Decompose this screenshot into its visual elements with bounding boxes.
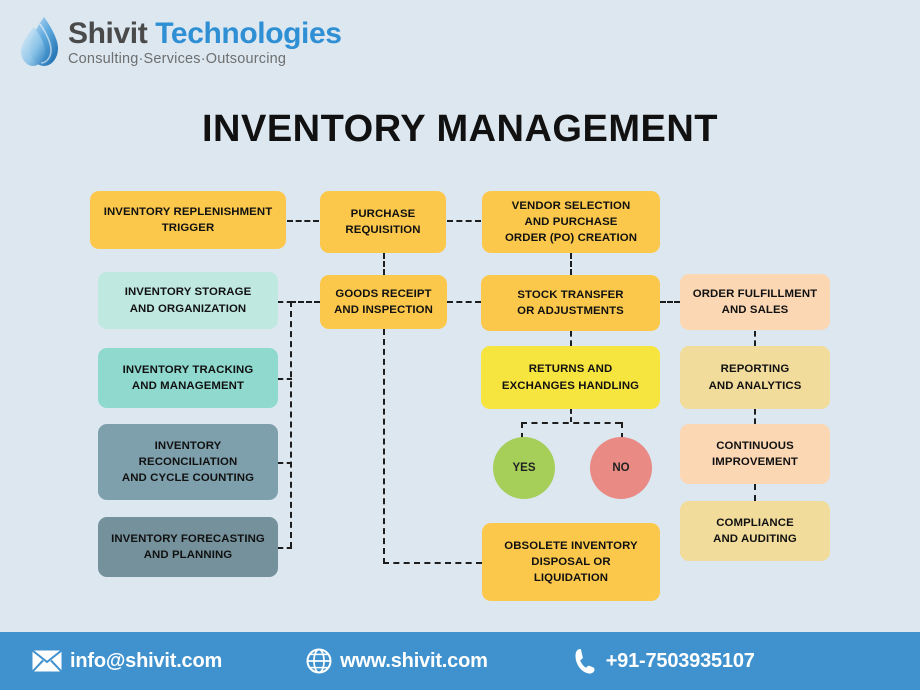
connector-order-fulfillment-to-reporting (754, 331, 756, 346)
node-line: LIQUIDATION (504, 570, 637, 586)
connector-reporting-to-continuous (754, 409, 756, 424)
node-line: INVENTORY (122, 438, 254, 454)
node-line: INVENTORY TRACKING (123, 362, 254, 378)
connector-bus-to-inventory-storage (278, 301, 292, 303)
node-line: ORDER (PO) CREATION (505, 230, 637, 246)
node-line: AND ORGANIZATION (125, 301, 252, 317)
node-line: AND MANAGEMENT (123, 378, 254, 394)
node-stock-transfer-or-adjustments[interactable]: STOCK TRANSFER OR ADJUSTMENTS (481, 275, 660, 331)
brand-logo: Shivit Technologies Consulting·Services·… (18, 14, 342, 72)
node-line: OBSOLETE INVENTORY (504, 538, 637, 554)
node-reporting-and-analytics[interactable]: REPORTING AND ANALYTICS (680, 346, 830, 409)
node-line: COMPLIANCE (713, 515, 797, 531)
connector-bus-to-inventory-reconciliation (278, 462, 292, 464)
decision-yes-label: YES (512, 462, 535, 474)
connector-stock-transfer-to-returns (570, 331, 572, 346)
brand-name: Shivit Technologies (68, 18, 342, 50)
page-title: INVENTORY MANAGEMENT (0, 108, 920, 151)
node-line: TRIGGER (104, 220, 273, 236)
node-inventory-forecasting-and-planning[interactable]: INVENTORY FORECASTING AND PLANNING (98, 517, 278, 577)
brand-name-part2: Technologies (155, 17, 341, 50)
node-vendor-selection-and-purchase-order-creation[interactable]: VENDOR SELECTION AND PURCHASE ORDER (PO)… (482, 191, 660, 253)
brand-tagline: Consulting·Services·Outsourcing (68, 51, 342, 67)
node-line: GOODS RECEIPT (334, 286, 433, 302)
globe-icon (306, 648, 332, 674)
decision-no[interactable]: NO (590, 437, 652, 499)
node-goods-receipt-and-inspection[interactable]: GOODS RECEIPT AND INSPECTION (320, 275, 447, 329)
decision-no-label: NO (612, 462, 629, 474)
phone-icon (574, 647, 596, 675)
contact-email[interactable]: info@shivit.com (32, 650, 222, 673)
node-line: INVENTORY STORAGE (125, 284, 252, 300)
node-line: DISPOSAL OR (504, 554, 637, 570)
connector-requisition-to-vendor (447, 220, 481, 222)
node-line: REQUISITION (345, 222, 420, 238)
envelope-icon (32, 650, 62, 672)
connector-left-bus-vertical (290, 301, 292, 548)
node-line: AND SALES (693, 302, 817, 318)
connector-stock-transfer-to-order-fulfillment (660, 301, 680, 303)
connector-trigger-to-requisition (287, 220, 319, 222)
node-line: AND PURCHASE (505, 214, 637, 230)
contact-phone[interactable]: +91-7503935107 (574, 647, 755, 675)
node-line: REPORTING (709, 361, 802, 377)
node-line: STOCK TRANSFER (517, 287, 624, 303)
connector-continuous-to-compliance (754, 484, 756, 501)
brand-logo-text: Shivit Technologies Consulting·Services·… (68, 14, 342, 67)
contact-website[interactable]: www.shivit.com (306, 648, 488, 674)
infographic-canvas: Shivit Technologies Consulting·Services·… (0, 0, 920, 690)
node-compliance-and-auditing[interactable]: COMPLIANCE AND AUDITING (680, 501, 830, 561)
connector-goods-receipt-to-stock-transfer (447, 301, 481, 303)
connector-down-to-obsolete-inventory (383, 562, 482, 564)
node-obsolete-inventory-disposal-or-liquidation[interactable]: OBSOLETE INVENTORY DISPOSAL OR LIQUIDATI… (482, 523, 660, 601)
connector-left-bus-to-goods-receipt (290, 301, 320, 303)
brand-name-part1: Shivit (68, 17, 147, 50)
node-line: AND INSPECTION (334, 302, 433, 318)
node-line: ORDER FULFILLMENT (693, 286, 817, 302)
node-continuous-improvement[interactable]: CONTINUOUS IMPROVEMENT (680, 424, 830, 484)
node-line: RECONCILIATION (122, 454, 254, 470)
node-line: AND PLANNING (111, 547, 265, 563)
contact-phone-label: +91-7503935107 (606, 650, 755, 673)
node-order-fulfillment-and-sales[interactable]: ORDER FULFILLMENT AND SALES (680, 274, 830, 330)
node-inventory-tracking-and-management[interactable]: INVENTORY TRACKING AND MANAGEMENT (98, 348, 278, 408)
node-line: RETURNS AND (502, 361, 639, 377)
connector-bus-to-inventory-tracking (278, 378, 292, 380)
connector-yesno-crossbar (521, 422, 621, 424)
contact-email-label: info@shivit.com (70, 650, 222, 673)
connector-bus-to-inventory-forecasting (278, 547, 292, 549)
node-inventory-storage-and-organization[interactable]: INVENTORY STORAGE AND ORGANIZATION (98, 272, 278, 329)
connector-goods-receipt-down (383, 329, 385, 564)
node-returns-and-exchanges-handling[interactable]: RETURNS AND EXCHANGES HANDLING (481, 346, 660, 409)
connector-requisition-to-goods-receipt (383, 253, 385, 275)
node-line: VENDOR SELECTION (505, 198, 637, 214)
decision-yes[interactable]: YES (493, 437, 555, 499)
node-line: CONTINUOUS (712, 438, 798, 454)
node-inventory-replenishment-trigger[interactable]: INVENTORY REPLENISHMENT TRIGGER (90, 191, 286, 249)
node-line: IMPROVEMENT (712, 454, 798, 470)
node-line: EXCHANGES HANDLING (502, 378, 639, 394)
node-line: INVENTORY FORECASTING (111, 531, 265, 547)
node-line: AND ANALYTICS (709, 378, 802, 394)
contact-website-label: www.shivit.com (340, 650, 488, 673)
connector-returns-down (570, 409, 572, 422)
water-drop-icon (18, 14, 62, 72)
node-line: OR ADJUSTMENTS (517, 303, 624, 319)
node-line: AND AUDITING (713, 531, 797, 547)
contact-footer: info@shivit.com www.shivit.com +91-7 (0, 632, 920, 690)
node-inventory-reconciliation-and-cycle-counting[interactable]: INVENTORY RECONCILIATION AND CYCLE COUNT… (98, 424, 278, 500)
node-line: PURCHASE (345, 206, 420, 222)
node-line: INVENTORY REPLENISHMENT (104, 204, 273, 220)
connector-vendor-to-stock-transfer (570, 253, 572, 275)
node-line: AND CYCLE COUNTING (122, 470, 254, 486)
node-purchase-requisition[interactable]: PURCHASE REQUISITION (320, 191, 446, 253)
